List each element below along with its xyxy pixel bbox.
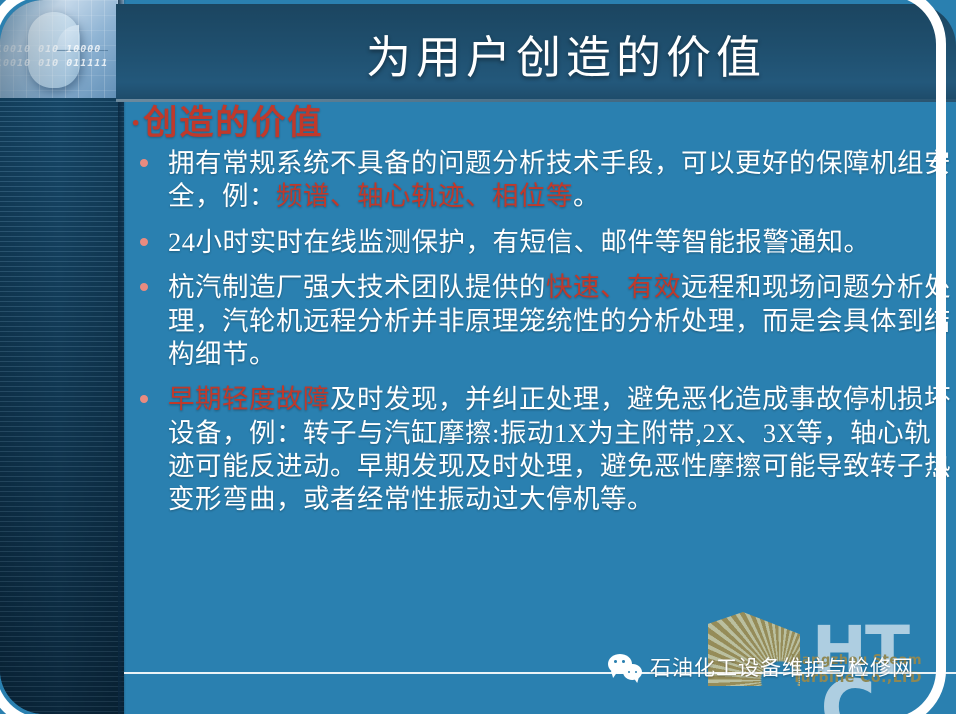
plain-text: 。	[573, 181, 600, 211]
wechat-eye	[614, 660, 617, 663]
highlighted-text: 频谱、轴心轨迹、相位等	[276, 181, 573, 211]
wechat-bubble-small	[623, 664, 642, 680]
wechat-eye	[635, 671, 638, 674]
title-bar: 为用户创造的价值	[116, 4, 956, 102]
wechat-eye	[628, 671, 631, 674]
striped-texture	[0, 96, 124, 714]
bullet-list: 拥有常规系统不具备的问题分析技术手段，可以更好的保障机组安全，例：频谱、轴心轨迹…	[128, 147, 952, 517]
mouse-photo: 10010 010 10000 10010 010 011111	[0, 0, 124, 98]
left-decoration-column: 10010 010 10000 10010 010 011111	[0, 0, 124, 714]
list-item: 24小时实时在线监测保护，有短信、邮件等智能报警通知。	[128, 226, 952, 259]
bullet-dot-icon	[140, 159, 148, 167]
slide-content: ·创造的价值 拥有常规系统不具备的问题分析技术手段，可以更好的保障机组安全，例：…	[128, 104, 952, 664]
highlighted-text: 早期轻度故障	[168, 384, 330, 414]
photo-shade	[0, 0, 124, 98]
bullet-dot-icon	[140, 395, 148, 403]
page-title: 为用户创造的价值	[116, 4, 956, 102]
list-item: 早期轻度故障及时发现，并纠正处理，避免恶化造成事故停机损坏设备，例：转子与汽缸摩…	[128, 383, 952, 517]
bullet-text: 早期轻度故障及时发现，并纠正处理，避免恶化造成事故停机损坏设备，例：转子与汽缸摩…	[168, 384, 951, 514]
bullet-text: 24小时实时在线监测保护，有短信、邮件等智能报警通知。	[168, 227, 871, 257]
bullet-text: 拥有常规系统不具备的问题分析技术手段，可以更好的保障机组安全，例：频谱、轴心轨迹…	[168, 148, 951, 211]
bullet-dot-icon	[140, 238, 148, 246]
plain-text: 24小时实时在线监测保护，有短信、邮件等智能报警通知。	[168, 227, 871, 257]
wechat-eye	[622, 660, 625, 663]
bullet-dot-icon	[140, 283, 148, 291]
bullet-text: 杭汽制造厂强大技术团队提供的快速、有效远程和现场问题分析处理，汽轮机远程分析并非…	[168, 272, 951, 369]
slide-canvas: 10010 010 10000 10010 010 011111 为用户创造的价…	[0, 0, 956, 714]
list-item: 拥有常规系统不具备的问题分析技术手段，可以更好的保障机组安全，例：频谱、轴心轨迹…	[128, 147, 952, 214]
column-edge-shadow	[118, 0, 126, 714]
wechat-watermark-text: 石油化工设备维护与检修网	[650, 652, 914, 682]
section-subtitle: ·创造的价值	[130, 104, 952, 143]
wechat-watermark: 石油化工设备维护与检修网	[608, 652, 914, 682]
highlighted-text: 快速、有效	[546, 272, 681, 302]
plain-text: 杭汽制造厂强大技术团队提供的	[168, 272, 546, 302]
list-item: 杭汽制造厂强大技术团队提供的快速、有效远程和现场问题分析处理，汽轮机远程分析并非…	[128, 271, 952, 371]
wechat-icon	[608, 654, 642, 680]
